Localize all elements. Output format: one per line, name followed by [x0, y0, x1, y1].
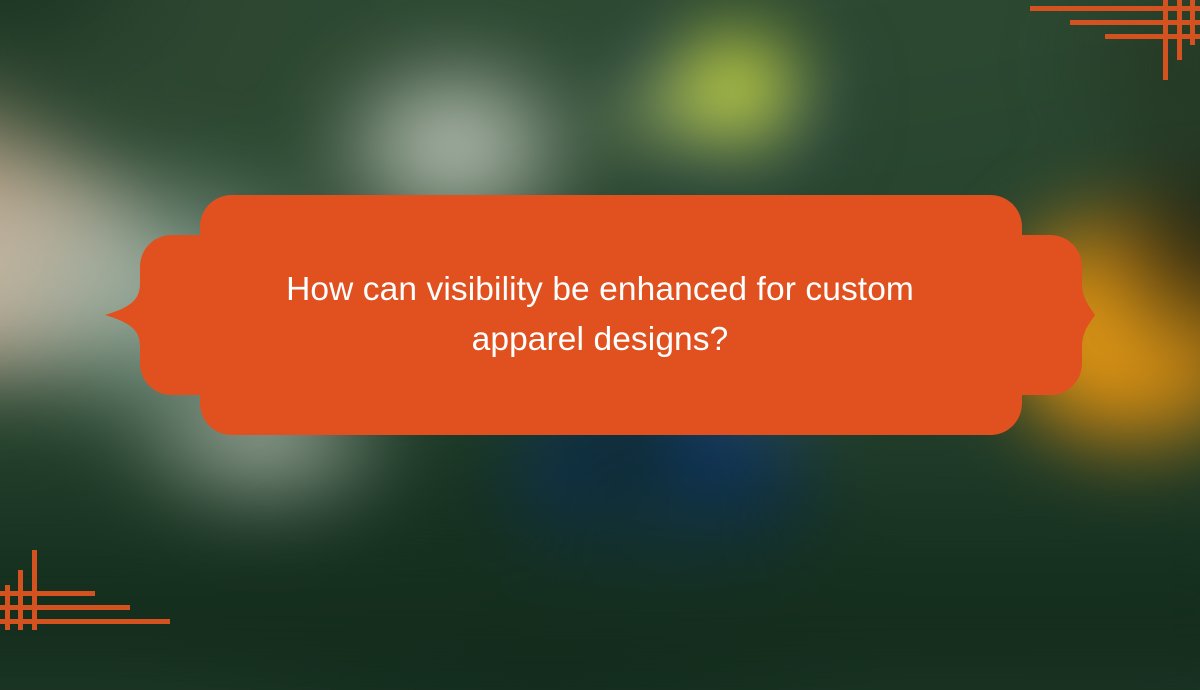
- background-blob-shadow-topleft: [0, 0, 186, 85]
- corner-line-horizontal: [0, 591, 95, 596]
- corner-line-vertical: [1177, 0, 1182, 60]
- corner-line-horizontal: [1030, 6, 1200, 11]
- corner-line-horizontal: [0, 619, 170, 624]
- corner-line-vertical: [5, 585, 10, 630]
- question-badge: How can visibility be enhanced for custo…: [105, 195, 1095, 435]
- corner-lines-top-right: [1030, 0, 1200, 80]
- badge-text-container: How can visibility be enhanced for custo…: [105, 195, 1095, 435]
- page-title: How can visibility be enhanced for custo…: [255, 265, 945, 365]
- background-bottom-vignette: [0, 421, 1200, 679]
- corner-lines-bottom-left: [0, 550, 170, 630]
- corner-line-vertical: [1190, 0, 1195, 45]
- background-blob-yellow-small: [600, 74, 701, 152]
- corner-line-horizontal: [1105, 34, 1200, 39]
- corner-line-vertical: [18, 570, 23, 630]
- corner-line-vertical: [1163, 0, 1168, 80]
- corner-line-vertical: [32, 550, 37, 630]
